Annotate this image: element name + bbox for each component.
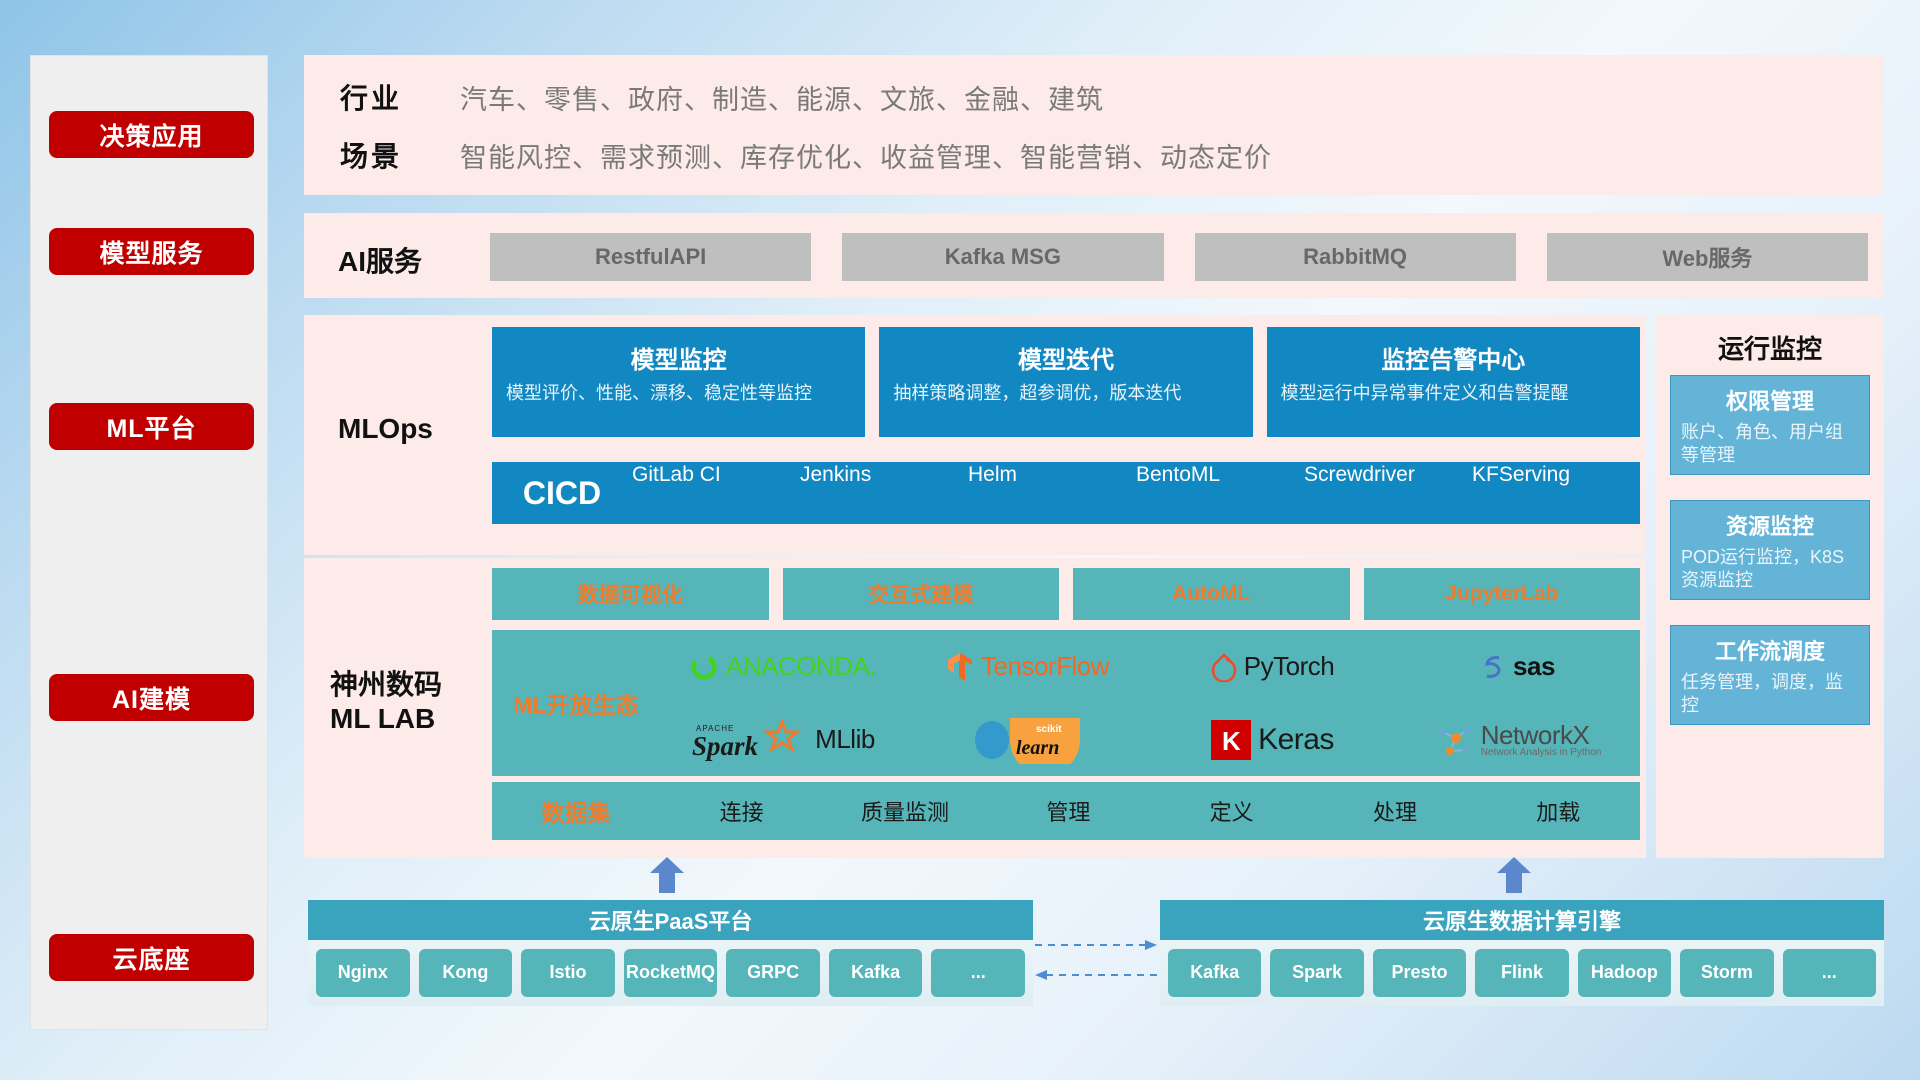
ml-ecosystem-box: ML开放生态 ANACONDA. TensorFlow PyTorch (492, 630, 1640, 776)
service-chip-web-service[interactable]: Web服务 (1547, 233, 1868, 281)
ai-service-chip-list: RestfulAPI Kafka MSG RabbitMQ Web服务 (490, 233, 1868, 281)
cicd-item-kfserving[interactable]: KFServing (1472, 462, 1640, 524)
card-title: 资源监控 (1681, 509, 1859, 541)
cloud-chip-kafka[interactable]: Kafka (829, 949, 923, 997)
tensorflow-wordmark: TensorFlow (981, 651, 1109, 682)
monitoring-card-workflow[interactable]: 工作流调度 任务管理，调度，监控 (1670, 625, 1870, 725)
cicd-item-screwdriver[interactable]: Screwdriver (1304, 462, 1472, 524)
tool-chip-interactive-modeling[interactable]: 交互式建模 (783, 568, 1060, 620)
industry-values: 汽车、零售、政府、制造、能源、文旅、金融、建筑 (460, 78, 1104, 117)
industry-label: 行业 (340, 77, 460, 117)
card-desc: 账户、角色、用户组等管理 (1681, 421, 1859, 468)
monitoring-band: 运行监控 权限管理 账户、角色、用户组等管理 资源监控 POD运行监控，K8S资… (1656, 315, 1884, 858)
engine-chip-presto[interactable]: Presto (1373, 949, 1466, 997)
cloud-paas-block: 云原生PaaS平台 Nginx Kong Istio RocketMQ GRPC… (308, 900, 1033, 1006)
cloud-chip-rocketmq[interactable]: RocketMQ (624, 949, 718, 997)
engine-chip-spark[interactable]: Spark (1270, 949, 1363, 997)
card-desc: 模型评价、性能、漂移、稳定性等监控 (506, 382, 851, 406)
cicd-item-gitlab-ci[interactable]: GitLab CI (632, 462, 800, 524)
sas-wordmark: sas (1513, 651, 1555, 682)
rail-item-ai-modeling[interactable]: AI建模 (49, 674, 254, 721)
networkx-logo: NetworkX Network Analysis in Python (1434, 720, 1602, 760)
cicd-bar: CICD GitLab CI Jenkins Helm BentoML Scre… (492, 462, 1640, 524)
anaconda-ring-icon (689, 652, 719, 682)
keras-logo: K Keras (1211, 720, 1334, 760)
bidirectional-dashed-connector-icon (1035, 935, 1157, 985)
keras-k-icon: K (1211, 720, 1251, 760)
monitoring-card-resource[interactable]: 资源监控 POD运行监控，K8S资源监控 (1670, 500, 1870, 600)
card-desc: 模型运行中异常事件定义和告警提醒 (1281, 382, 1626, 406)
ml-lab-label-line1: 神州数码 (330, 668, 442, 702)
ml-tool-chip-list: 数据可视化 交互式建模 AutoML JupyterLab (492, 568, 1640, 620)
tensorflow-logo: TensorFlow (946, 651, 1109, 683)
engine-chip-hadoop[interactable]: Hadoop (1578, 949, 1671, 997)
svg-text:K: K (1222, 726, 1241, 756)
networkx-graph-icon (1434, 720, 1474, 760)
cloud-paas-title: 云原生PaaS平台 (308, 900, 1033, 940)
ml-lab-label: 神州数码 ML LAB (330, 668, 442, 736)
pytorch-logo: PyTorch (1211, 651, 1334, 682)
service-chip-kafka-msg[interactable]: Kafka MSG (842, 233, 1163, 281)
engine-chip-kafka[interactable]: Kafka (1168, 949, 1261, 997)
svg-text:learn: learn (1016, 737, 1059, 759)
service-chip-restfulapi[interactable]: RestfulAPI (490, 233, 811, 281)
card-title: 模型监控 (506, 340, 851, 375)
mlops-label: MLOps (338, 412, 433, 446)
cloud-data-engine-chip-list: Kafka Spark Presto Flink Hadoop Storm ..… (1160, 940, 1884, 1006)
scenario-row: 场景 智能风控、需求预测、库存优化、收益管理、智能营销、动态定价 (340, 135, 1272, 175)
cicd-item-list: GitLab CI Jenkins Helm BentoML Screwdriv… (632, 462, 1640, 524)
tool-chip-data-visualization[interactable]: 数据可视化 (492, 568, 769, 620)
cloud-data-engine-title: 云原生数据计算引擎 (1160, 900, 1884, 940)
engine-chip-flink[interactable]: Flink (1475, 949, 1568, 997)
mllib-wordmark: MLlib (815, 724, 875, 755)
dataset-item-load[interactable]: 加载 (1477, 795, 1640, 827)
anaconda-logo: ANACONDA. (689, 651, 876, 682)
engine-chip-storm[interactable]: Storm (1680, 949, 1773, 997)
dataset-item-define[interactable]: 定义 (1150, 795, 1313, 827)
dataset-item-quality-monitor[interactable]: 质量监测 (823, 795, 986, 827)
dataset-item-list: 连接 质量监测 管理 定义 处理 加载 (660, 795, 1640, 827)
svg-text:Spark: Spark (692, 731, 759, 761)
cloud-paas-chip-list: Nginx Kong Istio RocketMQ GRPC Kafka ... (308, 940, 1033, 1006)
ml-ecosystem-title: ML开放生态 (492, 686, 660, 720)
up-arrow-data-engine-icon (1497, 857, 1531, 893)
ml-ecosystem-logo-grid: ANACONDA. TensorFlow PyTorch sas APA (660, 630, 1640, 776)
rail-item-ml-platform[interactable]: ML平台 (49, 403, 254, 450)
card-desc: 任务管理，调度，监控 (1681, 671, 1859, 718)
scikit-learn-logo: scikit learn (971, 716, 1084, 764)
up-arrow-paas-icon (650, 857, 684, 893)
apache-spark-glyph-icon: APACHE Spark (690, 718, 808, 762)
keras-wordmark: Keras (1258, 723, 1334, 757)
sas-logo: sas (1480, 651, 1555, 682)
card-title: 权限管理 (1681, 384, 1859, 416)
ml-lab-label-line2: ML LAB (330, 702, 442, 736)
mlops-card-list: 模型监控 模型评价、性能、漂移、稳定性等监控 模型迭代 抽样策略调整，超参调优，… (492, 327, 1640, 437)
card-desc: POD运行监控，K8S资源监控 (1681, 546, 1859, 593)
tensorflow-glyph-icon (946, 651, 974, 683)
cloud-data-engine-block: 云原生数据计算引擎 Kafka Spark Presto Flink Hadoo… (1160, 900, 1884, 1006)
application-band: 行业 汽车、零售、政府、制造、能源、文旅、金融、建筑 场景 智能风控、需求预测、… (304, 55, 1884, 195)
tool-chip-automl[interactable]: AutoML (1073, 568, 1350, 620)
spark-mllib-logo: APACHE Spark MLlib (690, 718, 875, 762)
pytorch-wordmark: PyTorch (1244, 651, 1334, 682)
scenario-label: 场景 (340, 135, 460, 175)
card-desc: 抽样策略调整，超参调优，版本迭代 (893, 382, 1238, 406)
monitoring-title: 运行监控 (1656, 329, 1884, 366)
service-chip-rabbitmq[interactable]: RabbitMQ (1195, 233, 1516, 281)
tool-chip-jupyterlab[interactable]: JupyterLab (1364, 568, 1641, 620)
pytorch-flame-icon (1211, 652, 1237, 682)
cicd-title: CICD (492, 475, 632, 512)
cicd-item-bentoml[interactable]: BentoML (1136, 462, 1304, 524)
dataset-item-manage[interactable]: 管理 (987, 795, 1150, 827)
sas-swirl-icon (1480, 653, 1506, 681)
cicd-item-helm[interactable]: Helm (968, 462, 1136, 524)
engine-chip-more[interactable]: ... (1783, 949, 1876, 997)
scikit-learn-badge-icon: scikit learn (1006, 716, 1084, 764)
dataset-title: 数据集 (492, 794, 660, 828)
cicd-item-jenkins[interactable]: Jenkins (800, 462, 968, 524)
card-title: 模型迭代 (893, 340, 1238, 375)
mlops-card-model-monitoring[interactable]: 模型监控 模型评价、性能、漂移、稳定性等监控 (492, 327, 865, 437)
mlops-card-model-iteration[interactable]: 模型迭代 抽样策略调整，超参调优，版本迭代 (879, 327, 1252, 437)
rail-item-cloud-base[interactable]: 云底座 (49, 934, 254, 981)
card-title: 监控告警中心 (1281, 340, 1626, 375)
ai-service-label: AI服务 (338, 245, 422, 279)
dataset-bar: 数据集 连接 质量监测 管理 定义 处理 加载 (492, 782, 1640, 840)
mlops-card-alert-center[interactable]: 监控告警中心 模型运行中异常事件定义和告警提醒 (1267, 327, 1640, 437)
svg-text:scikit: scikit (1036, 724, 1062, 735)
anaconda-wordmark: ANACONDA. (726, 651, 876, 682)
card-title: 工作流调度 (1681, 634, 1859, 666)
scenario-values: 智能风控、需求预测、库存优化、收益管理、智能营销、动态定价 (460, 136, 1272, 175)
industry-row: 行业 汽车、零售、政府、制造、能源、文旅、金融、建筑 (340, 77, 1104, 117)
networkx-tagline: Network Analysis in Python (1481, 748, 1602, 758)
cloud-chip-nginx[interactable]: Nginx (316, 949, 410, 997)
dataset-item-connect[interactable]: 连接 (660, 795, 823, 827)
monitoring-card-permission[interactable]: 权限管理 账户、角色、用户组等管理 (1670, 375, 1870, 475)
cloud-chip-istio[interactable]: Istio (521, 949, 615, 997)
cloud-chip-more[interactable]: ... (931, 949, 1025, 997)
cloud-chip-kong[interactable]: Kong (419, 949, 513, 997)
dataset-item-process[interactable]: 处理 (1313, 795, 1476, 827)
layer-rail: 决策应用 模型服务 ML平台 AI建模 云底座 (30, 55, 268, 1030)
rail-item-model-service[interactable]: 模型服务 (49, 228, 254, 275)
networkx-wordmark: NetworkX (1481, 722, 1602, 748)
rail-item-decision-app[interactable]: 决策应用 (49, 111, 254, 158)
cloud-chip-grpc[interactable]: GRPC (726, 949, 820, 997)
